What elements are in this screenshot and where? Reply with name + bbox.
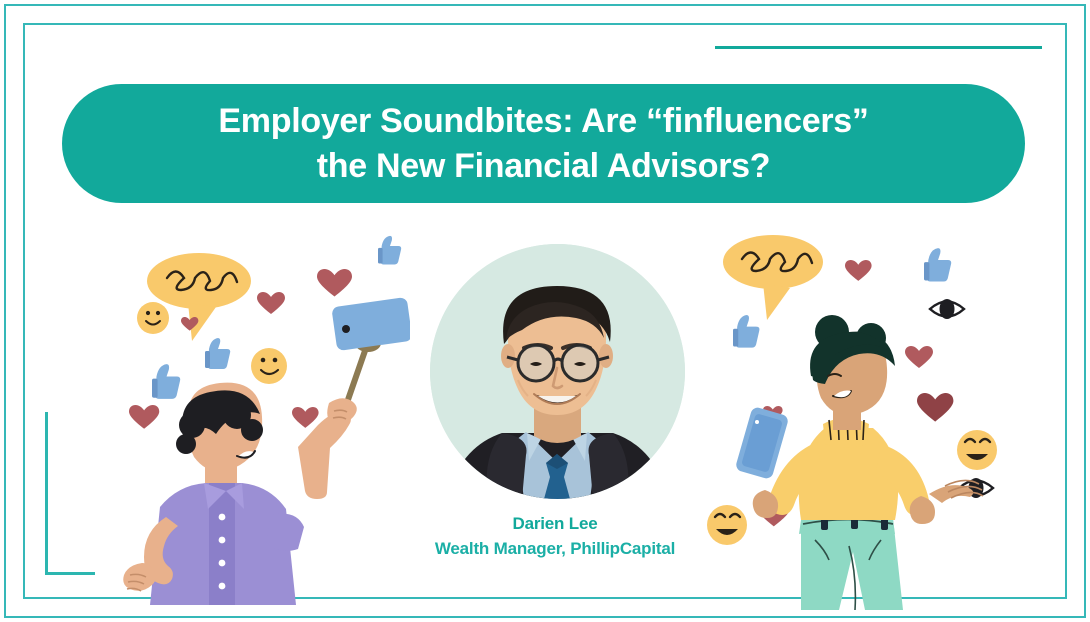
page-title: Employer Soundbites: Are “finfluencers” … [188,99,898,189]
title-line-1: Employer Soundbites: Are “finfluencers” [218,99,868,144]
heart-icon [129,405,159,429]
left-character [123,383,357,605]
phone-icon [331,297,410,351]
title-line-2: the New Financial Advisors? [218,144,868,189]
phone-icon [735,406,790,480]
title-banner: Employer Soundbites: Are “finfluencers” … [62,84,1025,203]
thumbs-up-icon [924,248,951,281]
heart-icon [257,292,285,314]
speaker-portrait [430,244,685,499]
top-right-accent-line [715,46,1042,49]
heart-icon [905,346,933,368]
speech-bubble-icon [723,235,823,320]
thumbs-up-icon [378,236,401,265]
bracket-horizontal [45,572,95,575]
speaker-role: Wealth Manager, PhillipCapital [355,537,755,562]
thumbs-up-icon [205,338,230,369]
slide-canvas: Employer Soundbites: Are “finfluencers” … [0,0,1090,622]
thumbs-up-icon [152,364,180,399]
heart-icon [845,260,872,281]
heart-icon [917,393,953,422]
eye-icon [930,299,964,319]
bottom-left-bracket-accent [45,412,95,575]
thumbs-up-icon [733,315,759,348]
heart-icon [317,269,352,297]
bracket-vertical [45,412,48,575]
heart-icon [292,407,319,428]
smiley-icon [251,348,287,384]
right-character [735,315,983,610]
smiley-icon [137,302,169,334]
smiley-icon [957,430,997,470]
speaker-caption: Darien Lee Wealth Manager, PhillipCapita… [355,512,755,561]
speaker-name: Darien Lee [355,512,755,537]
